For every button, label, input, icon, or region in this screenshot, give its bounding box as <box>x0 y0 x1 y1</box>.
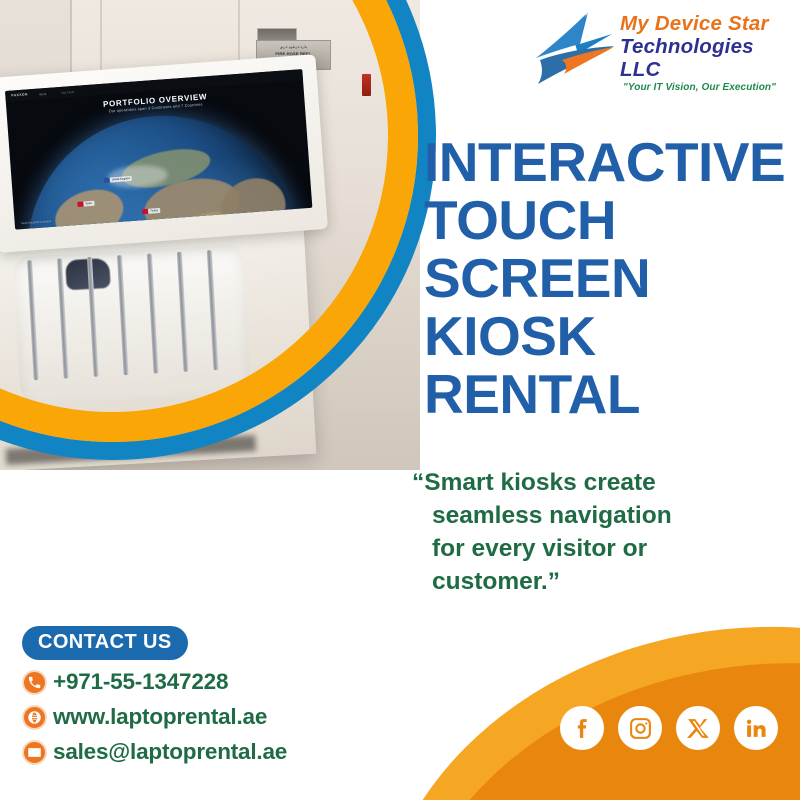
contact-phone-row[interactable]: +971-55-1347228 <box>22 669 382 695</box>
logo-line-2: Technologies LLC <box>620 35 790 81</box>
quote-line-1: “Smart kiosks create <box>412 466 722 499</box>
contact-us-badge: CONTACT US <box>22 626 188 660</box>
email-address: sales@laptoprental.ae <box>53 739 287 765</box>
headline-line-3: SCREEN <box>424 249 796 307</box>
headline-line-5: RENTAL <box>424 365 796 423</box>
x-twitter-icon[interactable] <box>676 706 720 750</box>
phone-number: +971-55-1347228 <box>53 669 228 695</box>
logo-line-1: My Device Star <box>620 12 790 35</box>
logo-wordmark: My Device Star Technologies LLC "Your IT… <box>620 12 790 95</box>
phone-icon <box>22 670 47 695</box>
headline-line-2: TOUCH <box>424 191 796 249</box>
contact-email-row[interactable]: sales@laptoprental.ae <box>22 739 382 765</box>
page-title: INTERACTIVE TOUCH SCREEN KIOSK RENTAL <box>424 133 796 423</box>
company-logo[interactable]: My Device Star Technologies LLC "Your IT… <box>528 6 790 98</box>
headline-line-4: KIOSK <box>424 307 796 365</box>
facebook-icon[interactable] <box>560 706 604 750</box>
instagram-icon[interactable] <box>618 706 662 750</box>
contact-block: CONTACT US +971-55-1347228 www.laptopren… <box>22 626 382 765</box>
star-swoosh-icon <box>528 10 620 90</box>
promo-poster: بكرة خرطوم حريق FIRE HOSE REEL <box>0 0 800 800</box>
headline-line-1: INTERACTIVE <box>424 133 796 191</box>
tagline-quote: “Smart kiosks create seamless navigation… <box>412 466 722 598</box>
contact-website-row[interactable]: www.laptoprental.ae <box>22 704 382 730</box>
globe-icon <box>22 705 47 730</box>
logo-tagline: "Your IT Vision, Our Execution" <box>620 81 790 95</box>
envelope-icon <box>22 740 47 765</box>
quote-line-4: customer.” <box>412 565 722 598</box>
quote-line-3: for every visitor or <box>412 532 722 565</box>
social-links <box>560 706 778 750</box>
quote-line-2: seamless navigation <box>412 499 722 532</box>
website-url: www.laptoprental.ae <box>53 704 267 730</box>
linkedin-icon[interactable] <box>734 706 778 750</box>
